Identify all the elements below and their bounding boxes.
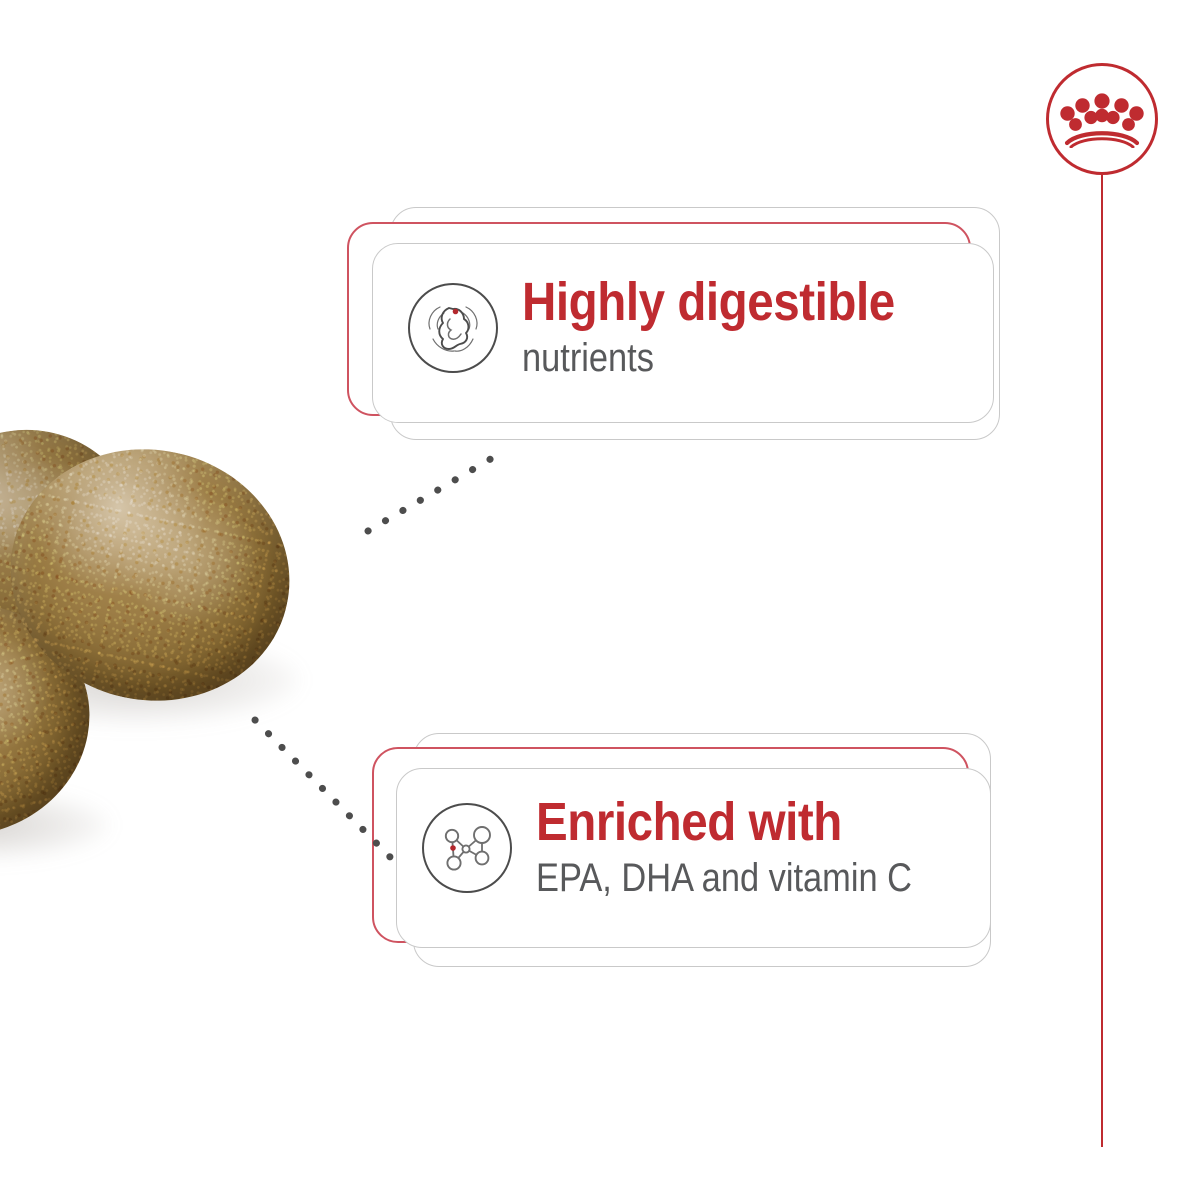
card-text-block: Highly digestible nutrients xyxy=(522,275,946,381)
card-title: Enriched with xyxy=(536,795,921,850)
card-content-highly-digestible: Highly digestible nutrients xyxy=(408,255,968,400)
card-title: Highly digestible xyxy=(522,275,895,330)
card-text-block: Enriched with EPA, DHA and vitamin C xyxy=(536,795,973,901)
poster-canvas: Highly digestible nutrients xyxy=(0,0,1200,1200)
card-subtitle: nutrients xyxy=(522,336,886,381)
connector-to-enriched-with xyxy=(245,710,405,875)
royal-canin-crown-logo xyxy=(1046,63,1158,175)
digestive-tract-icon xyxy=(408,283,498,373)
connector-to-highly-digestible xyxy=(360,445,510,540)
molecule-network-icon xyxy=(422,803,512,893)
card-content-enriched-with: Enriched with EPA, DHA and vitamin C xyxy=(422,788,982,908)
card-subtitle: EPA, DHA and vitamin C xyxy=(536,856,912,901)
